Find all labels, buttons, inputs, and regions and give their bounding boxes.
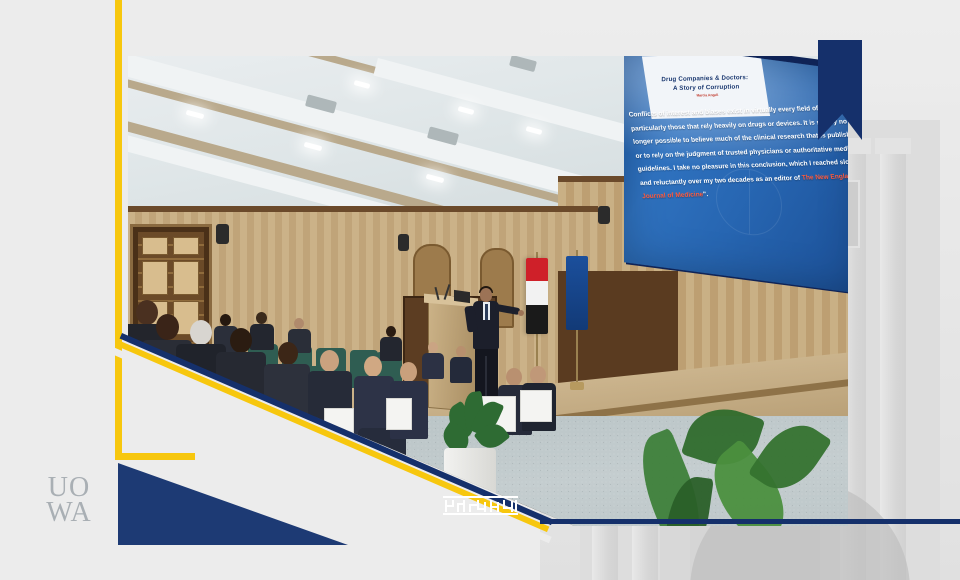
university-flag [566,256,588,330]
uowa-logo: UO WA [30,470,108,532]
attendee-legs [140,408,202,480]
attendee-head [400,362,417,382]
slide-author: Marcia Angell [696,93,718,98]
attendee-head [530,366,546,384]
attendee-head [136,300,158,325]
presentation-screen: Drug Companies & Doctors: A Story of Cor… [624,56,848,294]
attendee-shoe [260,470,290,482]
navy-triangle-accent [118,463,348,545]
attendee-legs [174,414,238,488]
yellow-frame-vertical [115,0,122,460]
program-sheet [520,390,552,422]
program-sheet [250,428,286,474]
attendee-legs [214,422,278,496]
slide-body-tail: ". [703,191,709,198]
attendee-head [294,318,304,329]
attendee-head [456,346,466,357]
program-sheet [386,398,412,430]
attendee-head [428,342,438,353]
attendee-head [190,320,212,345]
attendee-head [320,350,339,372]
attendee-body [422,353,444,379]
attendee-head [278,342,298,365]
iraq-flag [526,258,548,334]
flag-base [570,382,584,390]
attendee-hand [190,408,204,420]
attendee-head [386,326,396,337]
uowa-logo-line2: WA [46,501,92,526]
wall-speaker [598,206,610,224]
attendee-head [256,312,267,324]
slide-body-text: Conflicts of interest and biases exist i… [628,101,848,204]
event-photo: Drug Companies & Doctors: A Story of Cor… [128,56,848,526]
attendee-head [364,356,382,377]
navy-divider-rule [540,519,960,524]
slide-title-line2: A Story of Corruption [672,83,740,92]
attendee-head [230,328,252,353]
wall-speaker [216,224,229,244]
attendee-body [380,337,402,361]
attendee-head [506,368,522,386]
kufic-arabic-watermark [443,496,518,518]
laptop [454,290,470,303]
wall-speaker [398,234,409,251]
yellow-frame-horizontal [115,453,195,460]
attendee-body [250,324,274,350]
attendee-head [220,314,231,326]
banner-canvas: Drug Companies & Doctors: A Story of Cor… [0,0,960,580]
attendee-head [156,314,179,340]
attendee-body [450,357,472,383]
